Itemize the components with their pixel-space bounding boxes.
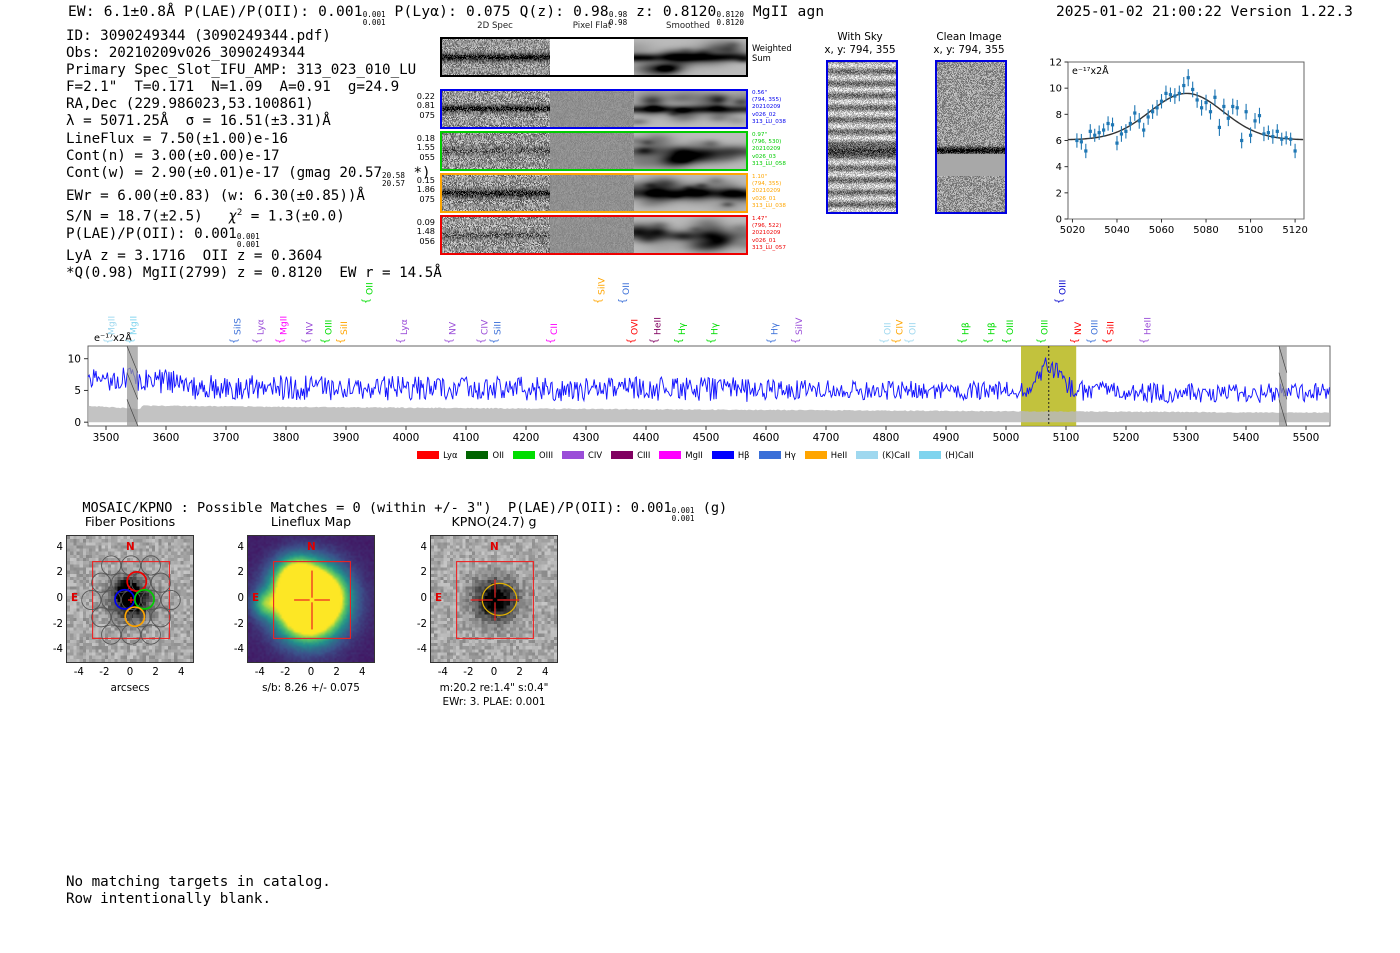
spec2d-row-right-values: 0.97"(796, 530)20210209v026_03313_LU_058 (752, 132, 804, 168)
spectrum-line-label: SiIV (794, 317, 805, 335)
svg-text:5080: 5080 (1193, 225, 1218, 236)
spectrum-legend-item: OII (466, 450, 504, 460)
spectrum-ytick: 0 (74, 417, 81, 429)
legend-label: OII (492, 450, 504, 460)
spectrum-line-label: CIV (895, 319, 906, 335)
legend-label: OIII (539, 450, 553, 460)
spectrum-xtick: 5000 (993, 432, 1020, 444)
spectrum-line-marker-brace: { (891, 338, 902, 344)
spectrum-line-marker-brace: { (275, 338, 286, 344)
source-info-block: ID: 3090249344 (3090249344.pdf) Obs: 202… (66, 28, 442, 283)
header-plya: P(Lyα): 0.075 (395, 4, 511, 20)
panel-ytick: 4 (49, 542, 63, 553)
svg-text:2: 2 (1056, 188, 1062, 199)
spectrum-line-marker-brace: { (957, 338, 968, 344)
spectrum-legend-item: CIV (562, 450, 602, 460)
info-obs: Obs: 20210209v026_3090249344 (66, 45, 442, 62)
svg-text:5020: 5020 (1060, 225, 1085, 236)
header-timestamp: 2025-01-02 21:00:22 (1056, 4, 1222, 20)
spectrum-xtick: 4600 (753, 432, 780, 444)
footer-line-1: No matching targets in catalog. (66, 874, 331, 891)
header-timestamp-block: 2025-01-02 21:00:22 Version 1.22.3 (1056, 4, 1353, 20)
spectrum-line-label: SiII (339, 321, 350, 335)
legend-label: (H)CaII (945, 450, 974, 460)
spectrum-ytick: 10 (68, 353, 81, 365)
svg-text:5120: 5120 (1282, 225, 1307, 236)
panel-ytick: 2 (49, 567, 63, 578)
spectrum-xtick: 4300 (573, 432, 600, 444)
spectrum-xtick: 4100 (453, 432, 480, 444)
spec2d-fiber-row (440, 173, 748, 213)
header-class: agn (798, 4, 825, 20)
spec2d-column-header: Smoothed (624, 21, 752, 31)
footer-note: No matching targets in catalog. Row inte… (66, 874, 331, 908)
spectrum-line-marker-brace: { (618, 298, 629, 304)
info-sn-pre: S/N = 18.7(±2.5) (66, 208, 228, 224)
spectrum-line-label: Lyα (256, 319, 267, 335)
spec2d-weighted-sum-row (440, 37, 748, 77)
spectrum-line-label: Hγ (677, 322, 688, 335)
info-plae: P(LAE)/P(OII): 0.0010.0010.001 (66, 226, 442, 249)
panel-overlay (248, 536, 375, 663)
info-cont-w-pre: Cont(w) = 2.90(±0.01)e-17 (gmag 20.57 (66, 165, 382, 181)
legend-swatch (417, 451, 439, 459)
spectrum-line-marker-brace: { (444, 338, 455, 344)
spectrum-line-label: OIII (1057, 280, 1068, 295)
spectrum-line-marker-brace: { (706, 338, 717, 344)
spectrum-xtick: 4000 (393, 432, 420, 444)
spectrum-line-marker-brace: { (1139, 338, 1150, 344)
spectrum-line-label: HeII (1143, 317, 1154, 335)
legend-swatch (805, 451, 827, 459)
panel-xtick: -4 (70, 667, 88, 678)
info-sn: S/N = 18.7(±2.5) χ2 = 1.3(±0.0) (66, 205, 442, 226)
panel-ytick: 4 (230, 542, 244, 553)
spectrum-line-label: Lyα (399, 319, 410, 335)
panel-title: KPNO(24.7) g (405, 514, 583, 529)
panel-image (247, 535, 375, 663)
spec2d-row-right-values: 1.47"(796, 522)20210209v026_01313_LU_057 (752, 216, 804, 252)
spectrum-line-marker-brace: { (593, 298, 604, 304)
spec2d-row-left-values: 0.181.55055 (409, 134, 435, 162)
cutout-title: Clean Imagex, y: 794, 355 (914, 31, 1024, 56)
spectrum-line-label: SiII (493, 321, 504, 335)
panel-ytick: -2 (230, 619, 244, 630)
spec2d-montage: 2D SpecPixel FlatSmoothedWeighted Sum0.2… (440, 33, 770, 261)
spectrum-line-marker-brace: { (336, 338, 347, 344)
spec2d-row-left-values: 0.220.81075 (409, 92, 435, 120)
header-ew: EW: 6.1±0.8Å (68, 4, 175, 20)
legend-swatch (611, 451, 633, 459)
svg-text:8: 8 (1056, 110, 1062, 121)
spectrum-line-label: OIII (1039, 320, 1050, 335)
spectrum-masked-band (127, 346, 138, 426)
legend-label: CIII (637, 450, 650, 460)
spectrum-line-label: Hβ (961, 322, 972, 335)
panel-xtick: 2 (511, 667, 529, 678)
spec2d-weighted-sum-label: Weighted Sum (752, 43, 792, 63)
spectrum-xtick: 5300 (1173, 432, 1200, 444)
header-z: z: 0.8120 (636, 4, 716, 20)
spectrum-line-label: OIII (324, 320, 335, 335)
header-plae-value: 0.001 (318, 4, 363, 20)
mosaic-filter: (g) (703, 500, 728, 516)
spectrum-line-marker-brace: { (1002, 338, 1013, 344)
gaussian-fit-svg: 502050405060508051005120024681012e⁻¹⁷x2Å (1034, 52, 1310, 245)
spectrum-line-marker-brace: { (229, 338, 240, 344)
spectrum-line-marker-brace: { (673, 338, 684, 344)
info-redshifts: LyA z = 3.1716 OII z = 0.3604 (66, 248, 442, 265)
header-version: Version 1.22.3 (1231, 4, 1353, 20)
spectrum-line-label: SiIV (597, 277, 608, 295)
compass-north: N (490, 541, 499, 553)
panel-xtick: -2 (459, 667, 477, 678)
spectrum-line-marker-brace: { (1102, 338, 1113, 344)
panel-caption: arcsecs (31, 682, 229, 694)
spectrum-xtick: 3500 (93, 432, 120, 444)
spectrum-legend-item: Lyα (417, 450, 457, 460)
legend-label: CIV (588, 450, 602, 460)
info-sn-post: = 1.3(±0.0) (242, 208, 345, 224)
spectrum-line-marker-brace: { (983, 338, 994, 344)
spectrum-line-marker-brace: { (489, 338, 500, 344)
spectrum-line-label: OIII (1090, 320, 1101, 335)
info-wavelength: λ = 5071.25Å σ = 16.51(±3.31)Å (66, 113, 442, 130)
panel-xtick: 4 (353, 667, 371, 678)
panel-xtick: -4 (434, 667, 452, 678)
spectrum-legend-item: (H)CaII (919, 450, 974, 460)
spectrum-xtick: 3800 (273, 432, 300, 444)
panel-ytick: 4 (413, 542, 427, 553)
panel-ytick: -4 (230, 644, 244, 655)
cutout-title-coords: x, y: 794, 355 (914, 44, 1024, 57)
header-plae-lo: 0.001 (363, 19, 386, 27)
svg-text:5040: 5040 (1104, 225, 1129, 236)
info-cont-w: Cont(w) = 2.90(±0.01)e-17 (gmag 20.5720.… (66, 165, 442, 188)
spectrum-line-marker-brace: { (1054, 298, 1065, 304)
info-ewr: EWr = 6.00(±0.83) (w: 6.30(±0.85))Å (66, 188, 442, 205)
spectrum-xtick: 5500 (1293, 432, 1320, 444)
info-primary-spec: Primary Spec_Slot_IFU_AMP: 313_023_010_L… (66, 62, 442, 79)
compass-north: N (307, 541, 316, 553)
panel-title: Fiber Positions (41, 514, 219, 529)
svg-text:0: 0 (1056, 215, 1062, 226)
spectrum-legend-item: HeII (805, 450, 847, 460)
panel-ytick: -2 (49, 619, 63, 630)
panel-ytick: -4 (49, 644, 63, 655)
cutout-title-name: Clean Image (914, 31, 1024, 44)
spectrum-ytick: 5 (74, 385, 81, 397)
full-spectrum-svg: 3500360037003800390040004100420043004400… (60, 268, 1340, 468)
svg-text:12: 12 (1049, 58, 1062, 69)
spec2d-fiber-row (440, 131, 748, 171)
spectrum-line-label: OII (621, 282, 632, 295)
spectrum-line-marker-brace: { (1069, 338, 1080, 344)
spectrum-xtick: 4800 (873, 432, 900, 444)
panel-ytick: 2 (413, 567, 427, 578)
panel-caption: s/b: 8.26 +/- 0.075 (212, 682, 410, 694)
spectrum-legend-item: OIII (513, 450, 553, 460)
legend-label: MgII (685, 450, 702, 460)
spec2d-row-right-values: 0.56"(794, 355)20210209v026_02313_LU_038 (752, 90, 804, 126)
spectrum-line-label: SiIS (232, 318, 243, 335)
panel-xtick: -2 (95, 667, 113, 678)
spectrum-line-marker-brace: { (766, 338, 777, 344)
legend-swatch (466, 451, 488, 459)
footer-line-2: Row intentionally blank. (66, 891, 331, 908)
spectrum-xtick: 4700 (813, 432, 840, 444)
spectrum-line-marker-brace: { (1086, 338, 1097, 344)
spectrum-line-label: HeII (652, 317, 663, 335)
spectrum-line-label: Hγ (769, 322, 780, 335)
info-chi-symbol: χ (228, 208, 237, 224)
info-cont-w-lo: 20.57 (382, 180, 405, 188)
panel-caption-secondary: EWr: 3. PLAE: 0.001 (395, 696, 593, 708)
svg-text:6: 6 (1056, 136, 1062, 147)
spectrum-line-marker-brace: { (790, 338, 801, 344)
panel-xtick: 0 (485, 667, 503, 678)
spectrum-line-label: OIII (1005, 320, 1016, 335)
spec2d-fiber-row (440, 89, 748, 129)
spectrum-legend-item: CIII (611, 450, 650, 460)
svg-text:4: 4 (1056, 162, 1062, 173)
spectrum-xtick: 4400 (633, 432, 660, 444)
panel-caption: m:20.2 re:1.4" s:0.4" (395, 682, 593, 694)
spec2d-fiber-row (440, 215, 748, 255)
spectrum-line-marker-brace: { (904, 338, 915, 344)
compass-north: N (126, 541, 135, 553)
compass-east: E (435, 592, 442, 604)
spectrum-line-marker-brace: { (649, 338, 660, 344)
spectrum-line-marker-brace: { (125, 338, 136, 344)
info-lineflux: LineFlux = 7.50(±1.00)e-16 (66, 131, 442, 148)
panel-ytick: 2 (230, 567, 244, 578)
compass-east: E (71, 592, 78, 604)
info-cont-n: Cont(n) = 3.00(±0.00)e-17 (66, 148, 442, 165)
panel-overlay (431, 536, 558, 663)
spectrum-line-label: SiII (1105, 321, 1116, 335)
spectrum-xtick: 3700 (213, 432, 240, 444)
spectrum-xtick: 4900 (933, 432, 960, 444)
spectrum-xtick: 3900 (333, 432, 360, 444)
spectrum-xtick: 4500 (693, 432, 720, 444)
panel-xtick: 4 (536, 667, 554, 678)
gaussian-fit-units-annotation: e⁻¹⁷x2Å (1072, 65, 1109, 77)
spectrum-line-label: OII (883, 322, 894, 335)
panel-xtick: 0 (121, 667, 139, 678)
panel-xtick: -2 (276, 667, 294, 678)
legend-label: Hγ (785, 450, 796, 460)
panel-xtick: 4 (172, 667, 190, 678)
cutout-title: With Skyx, y: 794, 355 (805, 31, 915, 56)
spectrum-masked-band (1279, 346, 1287, 426)
spectrum-line-marker-brace: { (301, 338, 312, 344)
header-plae-label: P(LAE)/P(OII): (184, 4, 309, 20)
header-z-line: MgII (753, 4, 789, 20)
spectrum-line-marker-brace: { (252, 338, 263, 344)
spectrum-line-label: NV (304, 321, 315, 335)
svg-text:10: 10 (1049, 84, 1062, 95)
gaussian-line-fit-chart: 502050405060508051005120024681012e⁻¹⁷x2Å (1034, 52, 1310, 245)
spectrum-line-label: NV (448, 321, 459, 335)
panel-xtick: 0 (302, 667, 320, 678)
legend-label: Lyα (443, 450, 457, 460)
info-plae-lo: 0.001 (237, 241, 260, 249)
spectrum-line-label: NV (1073, 321, 1084, 335)
panel-overlay (67, 536, 194, 663)
panel-ytick: -4 (413, 644, 427, 655)
info-id: ID: 3090249344 (3090249344.pdf) (66, 28, 442, 45)
panel-ytick: 0 (49, 593, 63, 604)
spectrum-xtick: 3600 (153, 432, 180, 444)
spectrum-line-marker-brace: { (879, 338, 890, 344)
legend-label: (K)CaII (882, 450, 910, 460)
panel-ytick: 0 (413, 593, 427, 604)
spectrum-legend-item: MgII (659, 450, 702, 460)
panel-ytick: 0 (230, 593, 244, 604)
legend-swatch (712, 451, 734, 459)
spectrum-line-marker-brace: { (1036, 338, 1047, 344)
spec2d-row-right-values: 1.10"(794, 355)20210209v026_01313_LU_038 (752, 174, 804, 210)
legend-label: Hβ (738, 450, 750, 460)
panel-xtick: 2 (328, 667, 346, 678)
spectrum-line-marker-brace: { (476, 338, 487, 344)
spectrum-line-label: MgII (129, 316, 140, 335)
spectrum-xtick: 5100 (1053, 432, 1080, 444)
spectrum-legend-item: Hβ (712, 450, 750, 460)
spectrum-line-marker-brace: { (396, 338, 407, 344)
legend-swatch (856, 451, 878, 459)
svg-text:5100: 5100 (1238, 225, 1263, 236)
panel-xtick: -4 (251, 667, 269, 678)
cutout-title-coords: x, y: 794, 355 (805, 44, 915, 57)
spectrum-legend-item: Hγ (759, 450, 796, 460)
spectrum-line-label: MgII (279, 316, 290, 335)
spectrum-line-label: Hγ (709, 322, 720, 335)
legend-label: HeII (831, 450, 847, 460)
panel-image (66, 535, 194, 663)
panel-xtick: 2 (147, 667, 165, 678)
svg-text:5060: 5060 (1149, 225, 1174, 236)
spectrum-line-marker-brace: { (103, 338, 114, 344)
compass-east: E (252, 592, 259, 604)
legend-swatch (919, 451, 941, 459)
legend-swatch (759, 451, 781, 459)
spectrum-line-label: OII (364, 282, 375, 295)
panel-ytick: -2 (413, 619, 427, 630)
cutout-image (935, 60, 1007, 214)
spectrum-legend: LyαOIIOIIICIVCIIIMgIIHβHγHeII(K)CaII(H)C… (60, 450, 1340, 460)
panel-image (430, 535, 558, 663)
legend-swatch (562, 451, 584, 459)
panel-title: Lineflux Map (222, 514, 400, 529)
spectrum-line-label: OII (907, 322, 918, 335)
info-plae-pre: P(LAE)/P(OII): 0.001 (66, 226, 237, 242)
spectrum-line-marker-brace: { (320, 338, 331, 344)
legend-swatch (513, 451, 535, 459)
spec2d-column-header: 2D Spec (430, 21, 560, 31)
info-seeing: F=2.1" T=0.171 N=1.09 A=0.91 g=24.9 (66, 79, 442, 96)
spectrum-line-label: OVI (630, 319, 641, 335)
cutout-title-name: With Sky (805, 31, 915, 44)
info-radec: RA,Dec (229.986023,53.100861) (66, 96, 442, 113)
spectrum-xtick: 4200 (513, 432, 540, 444)
spectrum-line-label: CIV (480, 319, 491, 335)
spectrum-line-marker-brace: { (546, 338, 557, 344)
spectrum-line-label: CII (549, 323, 560, 335)
mosaic-plae-lo: 0.001 (672, 515, 695, 523)
spectrum-xtick: 5200 (1113, 432, 1140, 444)
spec2d-row-left-values: 0.151.86075 (409, 176, 435, 204)
legend-swatch (659, 451, 681, 459)
cutout-image (826, 60, 898, 214)
spec2d-row-left-values: 0.091.48056 (409, 218, 435, 246)
full-spectrum-chart: 3500360037003800390040004100420043004400… (60, 268, 1340, 468)
spectrum-line-marker-brace: { (626, 338, 637, 344)
spectrum-line-label: MgII (106, 316, 117, 335)
spectrum-line-marker-brace: { (361, 298, 372, 304)
spectrum-xtick: 5400 (1233, 432, 1260, 444)
header-qz: Q(z): 0.98 (520, 4, 609, 20)
spectrum-legend-item: (K)CaII (856, 450, 910, 460)
spectrum-line-label: Hβ (987, 322, 998, 335)
